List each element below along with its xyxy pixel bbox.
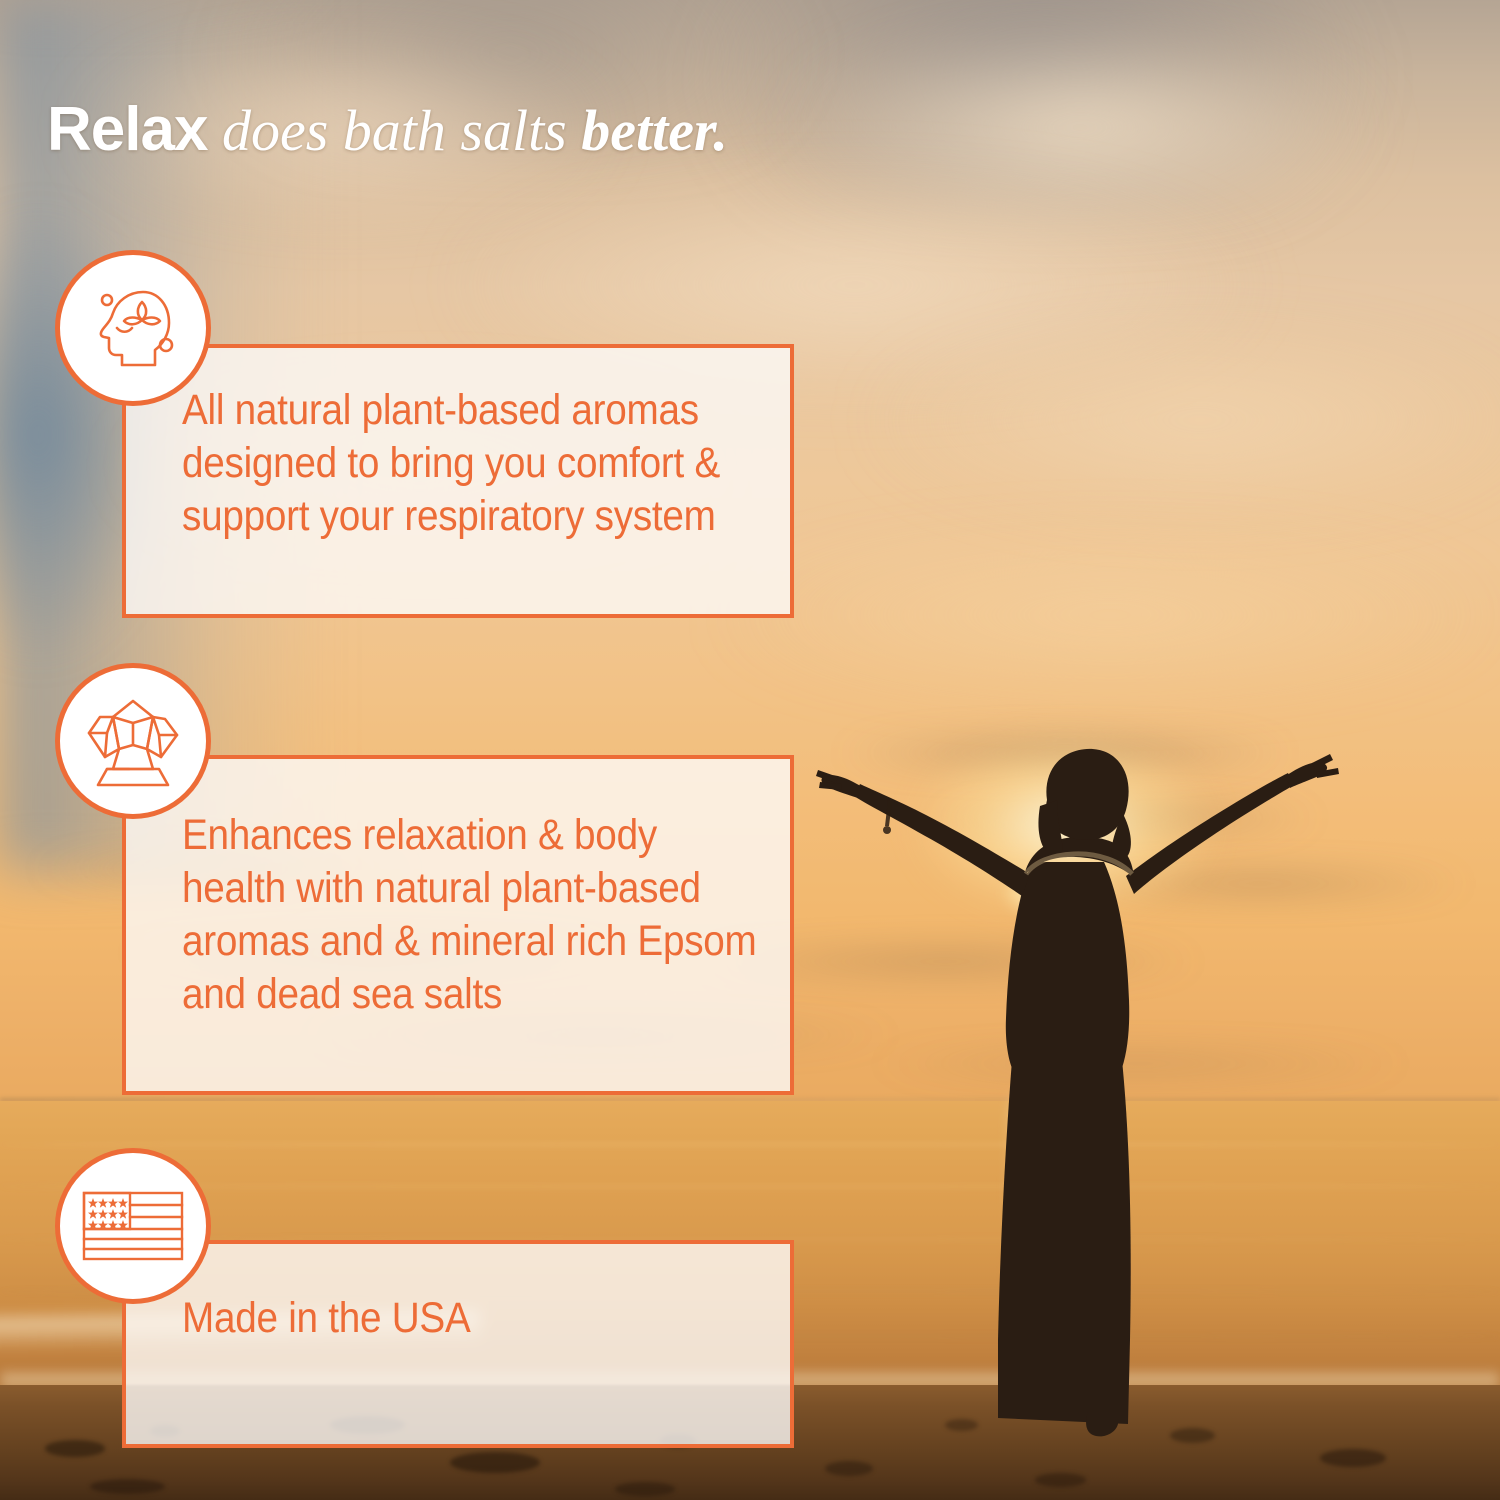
headline-brand: Relax	[47, 95, 207, 164]
feature-2-icon-badge	[55, 663, 211, 819]
head-lotus-mindfulness-icon	[81, 276, 185, 380]
page-title: Relax does bath salts better.	[47, 94, 728, 165]
feature-graphic: Relax does bath salts better. All natura…	[0, 0, 1500, 1500]
feature-3-icon-badge	[55, 1148, 211, 1304]
headline-emphasis: better.	[581, 98, 728, 163]
feature-2-text: Enhances relaxation & body health with n…	[182, 809, 758, 1021]
feature-3-text: Made in the USA	[182, 1292, 758, 1345]
feature-1-icon-badge	[55, 250, 211, 406]
mineral-salt-crystals-icon	[79, 687, 187, 795]
headline-middle: does bath salts	[207, 98, 581, 163]
feature-2-box: Enhances relaxation & body health with n…	[122, 755, 794, 1095]
feature-1-box: All natural plant-based aromas designed …	[122, 344, 794, 618]
feature-3-box: Made in the USA	[122, 1240, 794, 1448]
feature-1-text: All natural plant-based aromas designed …	[182, 384, 758, 543]
usa-flag-icon	[80, 1188, 186, 1264]
